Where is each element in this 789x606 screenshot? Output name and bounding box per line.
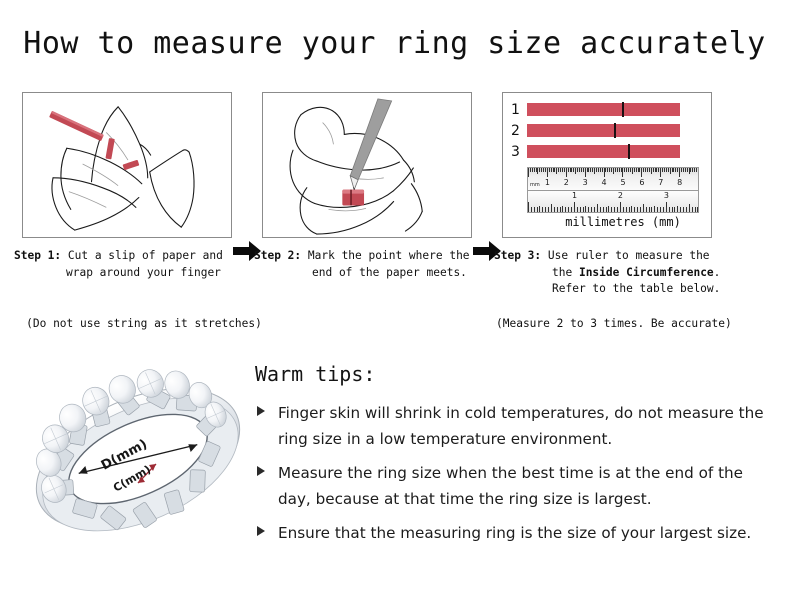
ruler-tick (649, 207, 650, 213)
ruler-tick (636, 168, 637, 172)
ruler-tick (577, 168, 578, 172)
step-1-lead: Step 1: (14, 249, 61, 262)
ruler-tick (685, 168, 686, 172)
ruler-tick (558, 168, 559, 172)
ruler-tick (549, 168, 550, 172)
ruler-tick (600, 168, 601, 172)
ruler-tick (607, 168, 608, 172)
tip-text-1: Finger skin will shrink in cold temperat… (278, 404, 764, 448)
step-column-1: Step 1: Cut a slip of paper and wrap aro… (14, 92, 254, 238)
ruler-tick (531, 207, 532, 213)
ruler-illustration: 12345678mm 123 (527, 167, 699, 213)
ruler-tick (583, 168, 584, 172)
ruler-tick (694, 168, 695, 172)
ruler-tick (575, 168, 576, 174)
step-3-line-2-post: . (714, 266, 721, 279)
paper-strip-loose (49, 111, 104, 141)
strip-row-2: 2 (511, 122, 707, 139)
ruler-tick (651, 168, 652, 174)
step-1-caption: Step 1: Cut a slip of paper and wrap aro… (14, 248, 266, 281)
ruler-tick (556, 168, 557, 174)
strip-bar-2 (527, 124, 680, 137)
ruler-tick (617, 207, 618, 213)
step-2-caption: Step 2: Mark the point where the end of … (254, 248, 506, 281)
ruler-tick (677, 206, 678, 213)
ruler-tick (658, 168, 659, 172)
ruler-tick (571, 168, 572, 172)
step-1-illustration-panel (22, 92, 232, 238)
ruler-tick (565, 207, 566, 213)
ruler-tick (528, 168, 529, 177)
step-1-line-1: Cut a slip of paper and (61, 249, 223, 262)
ruler-tick (628, 168, 629, 172)
ruler-tick (606, 207, 607, 213)
ruler-tick (638, 168, 639, 172)
ruler-tick (585, 168, 586, 177)
ruler-tick (660, 168, 661, 177)
step-3-line-1: Use ruler to measure the (541, 249, 709, 262)
ruler-tick (609, 168, 610, 172)
ruler-tick (641, 168, 642, 177)
ruler-tick (692, 168, 693, 172)
ruler-tick (653, 168, 654, 172)
step-2-line-1: Mark the point where the (301, 249, 469, 262)
tip-item-3: Ensure that the measuring ring is the si… (255, 520, 775, 546)
ruler-tick (536, 168, 537, 172)
ruler-metric-scale: 12345678mm (528, 168, 698, 191)
ruler-tick (697, 207, 698, 213)
ruler-tick (662, 168, 663, 172)
ruler-metric-label: 4 (602, 179, 607, 187)
ruler-tick (663, 207, 664, 213)
ruler-tick (547, 168, 548, 177)
ring-body (18, 352, 258, 563)
ruler-tick (617, 168, 618, 172)
ruler-tick (560, 207, 561, 213)
ruler-tick (632, 168, 633, 174)
ruler-tick (528, 202, 529, 213)
ruler-tick (579, 168, 580, 172)
ruler-tick (604, 168, 605, 177)
ruler-tick (530, 168, 531, 172)
ruler-tick (548, 207, 549, 213)
ruler-tick (657, 207, 658, 213)
ruler-tick (598, 168, 599, 172)
ruler-tick (545, 168, 546, 172)
ruler-metric-label: 5 (620, 179, 625, 187)
ruler-tick (666, 168, 667, 172)
hand-with-paper-strip-drawing (23, 93, 231, 237)
ruler-tick (647, 168, 648, 172)
ruler-tick (573, 168, 574, 172)
ruler-metric-label: 3 (583, 179, 588, 187)
ruler-metric-unit: mm (530, 181, 540, 189)
ruler-tick (542, 207, 543, 213)
ruler-tick (664, 168, 665, 172)
ruler-tick (600, 207, 601, 213)
strip-row-1: 1 (511, 101, 707, 118)
ruler-tick (622, 168, 623, 177)
ruler-tick (562, 206, 563, 213)
strip-number-3: 3 (511, 145, 527, 159)
ruler-tick (568, 207, 569, 213)
bullet-triangle-icon-2 (257, 466, 265, 476)
ruler-tick (613, 168, 614, 174)
step-1-note: (Do not use string as it stretches) (14, 317, 270, 330)
ruler-tick (634, 207, 635, 213)
ruler-tick (554, 207, 555, 213)
ruler-tick (592, 168, 593, 172)
ruler-tick (681, 168, 682, 172)
tip-item-2: Measure the ring size when the best time… (255, 460, 775, 512)
ruler-tick (654, 206, 655, 213)
strip-tick-3 (628, 144, 630, 159)
ruler-imperial-label: 2 (618, 192, 623, 200)
ruler-tick (643, 204, 644, 213)
bullet-triangle-icon-1 (257, 406, 265, 416)
paper-strip-wrapped (105, 138, 139, 170)
ruler-tick (677, 168, 678, 172)
ruler-tick (629, 207, 630, 213)
ruler-tick (660, 207, 661, 213)
ruler-tick (553, 168, 554, 172)
step-3-illustration-panel: 1 2 3 1 (502, 92, 712, 238)
ruler-tick (631, 206, 632, 213)
ruler-tick (672, 207, 673, 213)
strip-row-3: 3 (511, 143, 707, 160)
ruler-tick (637, 207, 638, 213)
step-3-caption: Step 3: Use ruler to measure the the Ins… (494, 248, 746, 298)
ruler-tick (645, 168, 646, 172)
ruler-tick (614, 207, 615, 213)
ruler-tick (594, 168, 595, 174)
ruler-tick (666, 202, 667, 213)
ruler-imperial-label: 1 (572, 192, 577, 200)
ruler-tick (655, 168, 656, 172)
ruler-tick (615, 168, 616, 172)
ruler-tick (585, 206, 586, 213)
paper-strip-marked (342, 190, 364, 206)
step-2-lead: Step 2: (254, 249, 301, 262)
ruler-tick (692, 207, 693, 213)
ruler-tick (696, 168, 697, 172)
strip-tick-1 (622, 102, 624, 117)
ruler-tick (597, 204, 598, 213)
page-title: How to measure your ring size accurately (0, 26, 789, 61)
ruler-tick (539, 206, 540, 213)
ruler-tick (630, 168, 631, 172)
ruler-tick (574, 202, 575, 213)
step-2-illustration-panel (262, 92, 472, 238)
warm-tips-heading: Warm tips: (255, 362, 775, 386)
steps-row: Step 1: Cut a slip of paper and wrap aro… (0, 92, 789, 342)
ruler-tick (689, 168, 690, 174)
ruler-tick (605, 168, 606, 172)
ruler-tick (534, 207, 535, 213)
strip-bar-3 (527, 145, 680, 158)
step-3-line-2-pre: the (552, 266, 579, 279)
ruler-tick (651, 207, 652, 213)
ruler-tick (624, 168, 625, 172)
ruler-tick (545, 207, 546, 213)
ruler-tick (673, 168, 674, 172)
ruler-tick (656, 168, 657, 172)
tip-text-2: Measure the ring size when the best time… (278, 464, 743, 508)
ruler-tick (588, 168, 589, 172)
ruler-tick (594, 207, 595, 213)
ruler-tick (686, 207, 687, 213)
ruler-tick (602, 168, 603, 172)
ruler-tick (690, 168, 691, 172)
ruler-tick (541, 168, 542, 172)
hand-marking-paper-drawing (263, 93, 471, 237)
ruler-tick (689, 204, 690, 213)
ruler-tick (570, 168, 571, 172)
step-3-line-2: the Inside Circumference. (494, 265, 746, 282)
strip-tick-2 (614, 123, 616, 138)
ruler-tick (679, 168, 680, 177)
step-3-note: (Measure 2 to 3 times. Be accurate) (494, 317, 748, 330)
step-1-line-2: wrap around your finger (14, 265, 266, 282)
ruler-tick (557, 207, 558, 213)
ruler-tick (672, 168, 673, 172)
ruler-tick (588, 207, 589, 213)
ruler-tick (640, 207, 641, 213)
tip-item-1: Finger skin will shrink in cold temperat… (255, 400, 775, 452)
ruler-metric-label: 1 (545, 179, 550, 187)
ruler-tick (621, 168, 622, 172)
ruler-tick (634, 168, 635, 172)
ruler-tick (639, 168, 640, 172)
ruler-tick (534, 168, 535, 172)
ruler-tick (551, 168, 552, 172)
ruler-tick (687, 168, 688, 172)
ruler-tick (581, 168, 582, 172)
ruler-tick (562, 168, 563, 172)
ruler-tick (643, 168, 644, 172)
ruler-tick (568, 168, 569, 172)
warm-tips-section: Warm tips: Finger skin will shrink in co… (255, 362, 775, 554)
ruler-tick (695, 207, 696, 213)
strip-number-1: 1 (511, 103, 527, 117)
ruler-tick (537, 207, 538, 213)
bullet-triangle-icon-3 (257, 526, 265, 536)
ruler-tick (683, 207, 684, 213)
ruler-tick (623, 207, 624, 213)
ruler-tick (675, 168, 676, 172)
tip-text-3: Ensure that the measuring ring is the si… (278, 524, 751, 542)
step-3-line-3: Refer to the table below. (494, 281, 746, 298)
ruler-tick (591, 207, 592, 213)
ruler-imperial-label: 3 (664, 192, 669, 200)
ruler-metric-label: 7 (658, 179, 663, 187)
ruler-tick (674, 207, 675, 213)
ruler-tick (611, 207, 612, 213)
ruler-tick (566, 168, 567, 177)
ruler-unit-label: millimetres (mm) (543, 215, 703, 229)
ruler-imperial-scale: 123 (528, 191, 698, 213)
ruler-tick (580, 207, 581, 213)
ruler-tick (611, 168, 612, 172)
ruler-tick (539, 168, 540, 172)
ruler-tick (608, 206, 609, 213)
ruler-tick (603, 207, 604, 213)
ruler-tick (564, 168, 565, 172)
ruler-tick (680, 207, 681, 213)
ruler-tick (551, 204, 552, 213)
ruler-tick (590, 168, 591, 172)
ruler-metric-label: 8 (677, 179, 682, 187)
ruler-tick (532, 168, 533, 172)
ring-diagram: D(mm) C(mm) (18, 352, 258, 567)
ruler-tick (698, 168, 699, 177)
ruler-metric-label: 6 (639, 179, 644, 187)
ruler-tick (596, 168, 597, 172)
measured-paper-strips: 1 2 3 (511, 101, 707, 164)
ruler-tick (583, 207, 584, 213)
pen-icon (350, 99, 391, 193)
step-column-2: Step 2: Mark the point where the end of … (254, 92, 494, 238)
ruler-tick (620, 202, 621, 213)
step-column-3: 1 2 3 1 (494, 92, 734, 238)
ruler-tick (571, 207, 572, 213)
strip-number-2: 2 (511, 124, 527, 138)
ruler-tick (626, 168, 627, 172)
ruler-tick (626, 207, 627, 213)
ruler-tick (646, 207, 647, 213)
ruler-tick (649, 168, 650, 172)
ruler-tick (537, 168, 538, 174)
strip-bar-1 (527, 103, 680, 116)
ruler-tick (577, 207, 578, 213)
ruler-tick (683, 168, 684, 172)
ruler-tick (554, 168, 555, 172)
ruler-tick (669, 207, 670, 213)
ruler-tick (587, 168, 588, 172)
ruler-tick (560, 168, 561, 172)
ruler-tick (543, 168, 544, 172)
step-3-lead: Step 3: (494, 249, 541, 262)
step-2-line-2: end of the paper meets. (254, 265, 506, 282)
ruler-tick (670, 168, 671, 174)
ruler-metric-label: 2 (564, 179, 569, 187)
ruler-tick (619, 168, 620, 172)
inside-circumference-emphasis: Inside Circumference (579, 266, 714, 279)
ruler-tick (668, 168, 669, 172)
